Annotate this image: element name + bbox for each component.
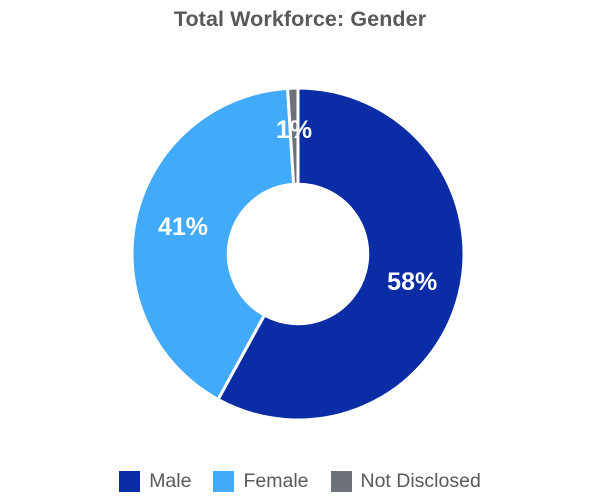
legend-item-female[interactable]: Female: [213, 470, 308, 492]
legend-item-not-disclosed[interactable]: Not Disclosed: [331, 470, 481, 492]
donut-chart: 58%41%1%: [0, 0, 600, 500]
legend-swatch-icon: [213, 471, 234, 492]
slice-label-female: 41%: [158, 213, 208, 241]
chart-container: Total Workforce: Gender 58%41%1% MaleFem…: [0, 0, 600, 500]
legend-swatch-icon: [331, 471, 352, 492]
slice-label-male: 58%: [387, 268, 437, 296]
legend-item-label: Male: [149, 470, 191, 492]
legend-swatch-icon: [119, 471, 140, 492]
slice-label-not-disclosed: 1%: [276, 116, 312, 144]
legend-item-label: Not Disclosed: [361, 470, 481, 492]
chart-legend: MaleFemaleNot Disclosed: [0, 470, 600, 492]
legend-item-label: Female: [243, 470, 308, 492]
legend-item-male[interactable]: Male: [119, 470, 191, 492]
